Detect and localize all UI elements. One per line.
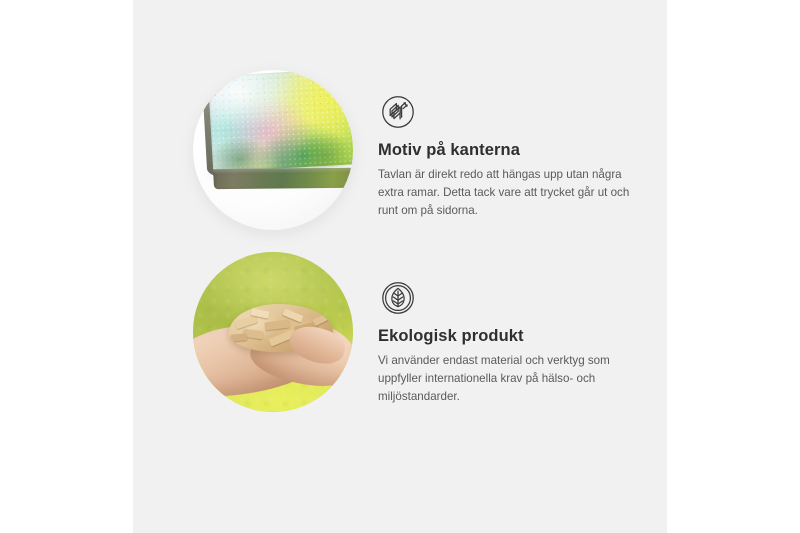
content-panel: Motiv på kanterna Tavlan är direkt redo …: [133, 0, 667, 533]
wrapped-canvas-edge-icon: [378, 92, 418, 132]
infographic-stage: Motiv på kanterna Tavlan är direkt redo …: [0, 0, 800, 533]
leaf-icon: [378, 278, 418, 318]
wood-chip: [312, 313, 329, 326]
feature-description: Tavlan är direkt redo att hängas upp uta…: [378, 166, 630, 220]
wood-chip: [265, 320, 290, 331]
canvas-printed-face: [208, 70, 353, 172]
canvas-corner-photo: [193, 70, 353, 230]
feature-text-motiv-pa-kanterna: Motiv på kanterna Tavlan är direkt redo …: [378, 92, 643, 220]
canvas-drip-zone: [211, 122, 353, 174]
canvas-wrapped-side: [213, 168, 353, 190]
wood-chip: [231, 333, 248, 341]
feature-title: Ekologisk produkt: [378, 327, 643, 346]
wood-chip: [234, 315, 257, 329]
feature-text-ekologisk-produkt: Ekologisk produkt Vi använder endast mat…: [378, 278, 643, 406]
feature-title: Motiv på kanterna: [378, 141, 643, 160]
white-disc-background: [193, 70, 353, 230]
canvas-side-highlight: [213, 168, 353, 175]
photo-circle-mask: [193, 252, 353, 412]
hands-wood-chips-photo: [193, 252, 353, 412]
canvas-block: [208, 70, 353, 194]
feature-description: Vi använder endast material och verktyg …: [378, 352, 630, 406]
